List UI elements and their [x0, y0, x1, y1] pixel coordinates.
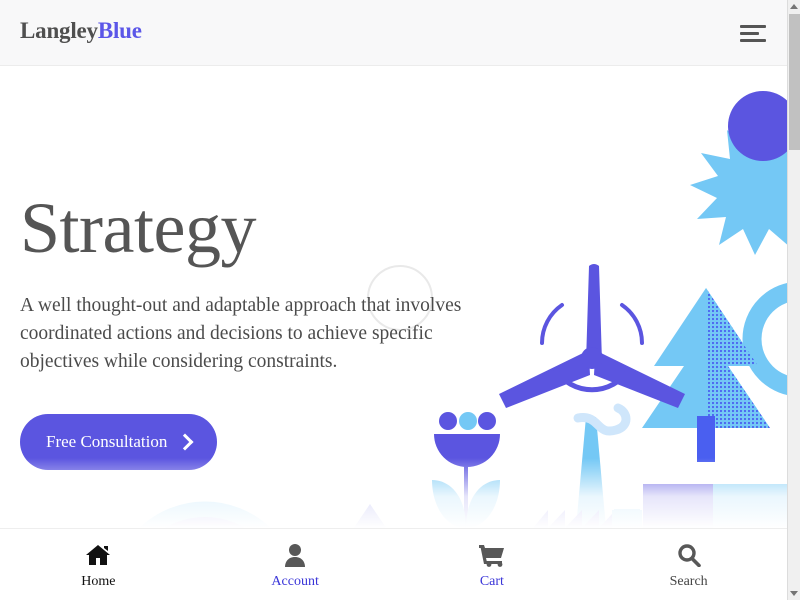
bottom-navigation-bar: Home Account [0, 528, 787, 600]
shopping-cart-icon [479, 543, 505, 567]
scroll-up-arrow-icon[interactable] [788, 0, 800, 13]
sun-graphic [690, 91, 787, 255]
browser-page: LangleyBlue [0, 0, 800, 600]
site-logo[interactable]: LangleyBlue [20, 18, 142, 44]
logo-primary-text: Langley [20, 18, 98, 43]
factory-and-buildings-graphic [533, 484, 787, 528]
chevron-right-icon [177, 433, 194, 450]
vertical-scrollbar[interactable] [787, 0, 800, 600]
page-title: Strategy [20, 66, 540, 264]
nav-item-home[interactable]: Home [0, 529, 197, 600]
nav-item-account[interactable]: Account [197, 529, 394, 600]
hero-description: A well thought-out and adaptable approac… [20, 264, 512, 376]
arc-decoration [119, 510, 291, 528]
mountain-triangle [328, 504, 412, 528]
ring-graphic [752, 291, 787, 387]
hero-section: Strategy A well thought-out and adaptabl… [0, 66, 787, 528]
nav-item-search[interactable]: Search [590, 529, 787, 600]
smoke-wisp [578, 408, 626, 431]
cta-label: Free Consultation [46, 432, 167, 452]
hero-text-block: Strategy A well thought-out and adaptabl… [20, 66, 540, 470]
menu-bar-middle [740, 32, 759, 35]
scrollbar-thumb[interactable] [789, 14, 800, 150]
search-icon [677, 543, 701, 567]
user-icon [284, 543, 306, 567]
nav-label-search: Search [670, 575, 708, 589]
logo-accent-text: Blue [98, 18, 142, 43]
free-consultation-button[interactable]: Free Consultation [20, 414, 217, 470]
scroll-down-arrow-icon[interactable] [788, 587, 800, 600]
home-icon [85, 543, 111, 567]
hamburger-menu-icon[interactable] [737, 20, 769, 48]
menu-bar-top [740, 25, 766, 28]
nav-label-account: Account [271, 575, 318, 589]
pine-tree-graphic [642, 288, 776, 462]
arrow-up-triangle [790, 4, 798, 9]
nav-label-cart: Cart [480, 575, 504, 589]
site-header: LangleyBlue [0, 0, 787, 66]
page-viewport: LangleyBlue [0, 0, 787, 600]
menu-bar-bottom [740, 39, 766, 42]
nav-item-cart[interactable]: Cart [394, 529, 591, 600]
arrow-down-triangle [790, 591, 798, 596]
nav-label-home: Home [81, 575, 115, 589]
